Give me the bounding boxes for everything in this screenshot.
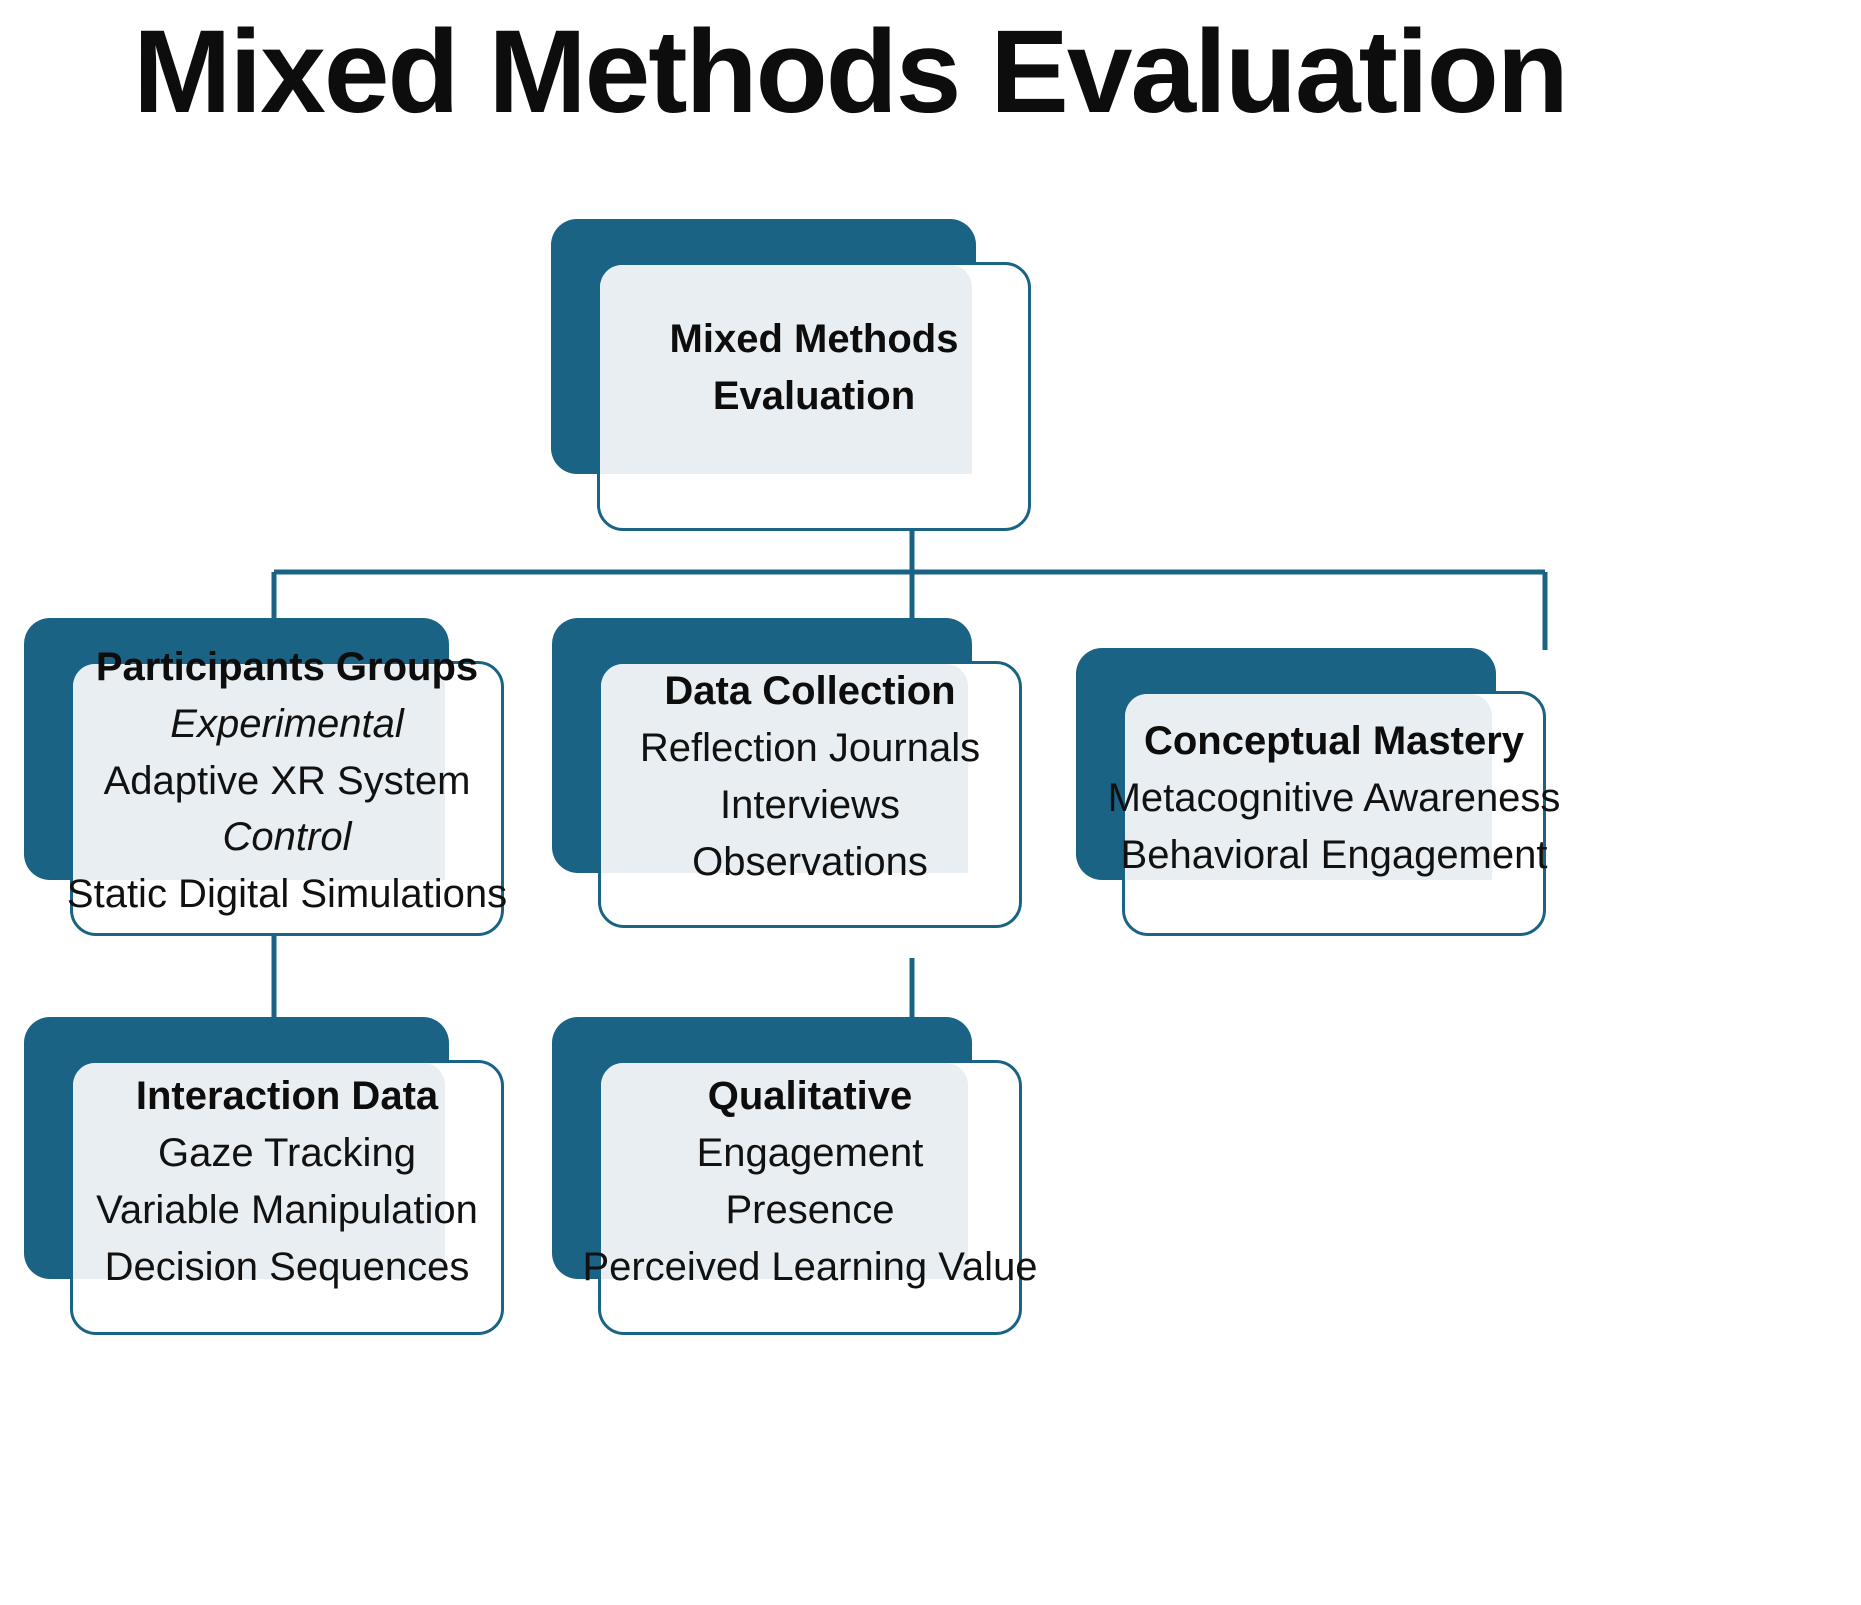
node-content: Interaction Data Gaze Tracking Variable … <box>24 1017 504 1335</box>
node-title-line2: Evaluation <box>713 368 915 425</box>
node-participants-groups[interactable]: Participants Groups Experimental Adaptiv… <box>24 618 504 936</box>
node-content: Mixed Methods Evaluation <box>551 219 1031 531</box>
node-content: Data Collection Reflection Journals Inte… <box>552 618 1022 928</box>
node-item: Metacognitive Awareness <box>1108 770 1561 827</box>
node-mixed-methods-evaluation[interactable]: Mixed Methods Evaluation <box>551 219 1031 531</box>
node-item: Experimental <box>170 696 403 753</box>
node-item: Gaze Tracking <box>158 1125 416 1182</box>
node-item: Observations <box>692 834 928 891</box>
node-item: Perceived Learning Value <box>582 1239 1037 1296</box>
node-item: Decision Sequences <box>105 1239 470 1296</box>
node-title: Conceptual Mastery <box>1144 713 1524 770</box>
node-item: Adaptive XR System <box>104 753 471 810</box>
node-conceptual-mastery[interactable]: Conceptual Mastery Metacognitive Awarene… <box>1076 648 1546 936</box>
node-content: Qualitative Engagement Presence Perceive… <box>552 1017 1022 1335</box>
node-title: Mixed Methods <box>670 311 959 368</box>
page-title: Mixed Methods Evaluation <box>0 2 1700 144</box>
node-title: Qualitative <box>708 1068 913 1125</box>
node-item: Reflection Journals <box>640 720 980 777</box>
node-item: Interviews <box>720 777 900 834</box>
node-item: Control <box>223 809 352 866</box>
node-item: Variable Manipulation <box>96 1182 478 1239</box>
node-title: Participants Groups <box>96 639 478 696</box>
diagram-canvas: Mixed Methods Evaluation Mixed Methods E… <box>0 0 1861 1605</box>
node-content: Conceptual Mastery Metacognitive Awarene… <box>1076 648 1546 936</box>
node-content: Participants Groups Experimental Adaptiv… <box>24 618 504 936</box>
node-data-collection[interactable]: Data Collection Reflection Journals Inte… <box>552 618 1022 928</box>
node-interaction-data[interactable]: Interaction Data Gaze Tracking Variable … <box>24 1017 504 1335</box>
node-item: Presence <box>726 1182 895 1239</box>
node-qualitative[interactable]: Qualitative Engagement Presence Perceive… <box>552 1017 1022 1335</box>
node-item: Behavioral Engagement <box>1121 827 1548 884</box>
node-item: Static Digital Simulations <box>67 866 507 923</box>
node-item: Engagement <box>697 1125 924 1182</box>
node-title: Interaction Data <box>136 1068 438 1125</box>
node-title: Data Collection <box>664 663 955 720</box>
